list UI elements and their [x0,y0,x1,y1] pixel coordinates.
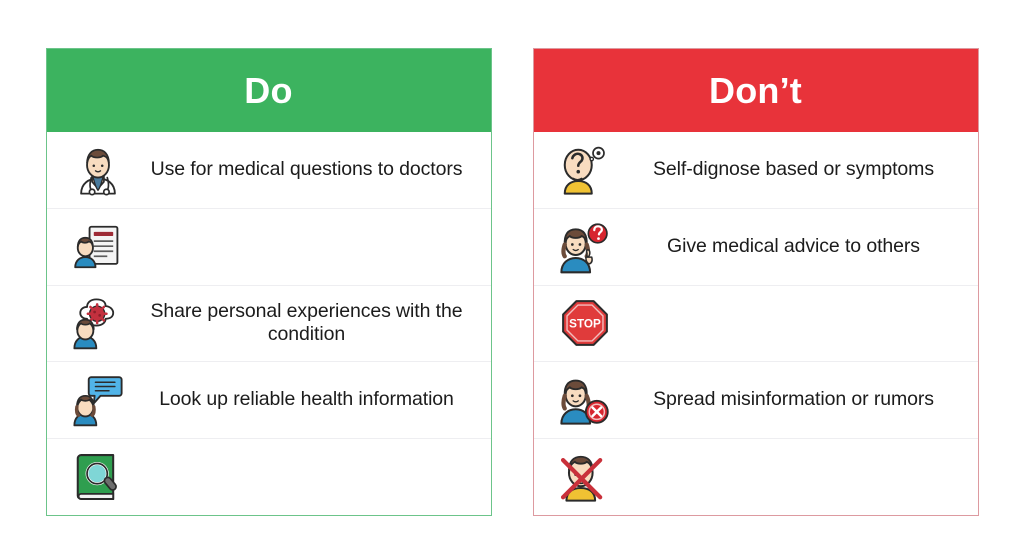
list-item-label: Use for medical questions to doctors [135,158,485,182]
do-and-dont-board: Do [0,0,1024,559]
list-item[interactable]: STOP [534,285,978,362]
list-item-label: Self-dignose based or symptoms [622,158,972,182]
list-item[interactable] [47,208,491,285]
list-item-label: Give medical advice to others [622,235,972,259]
person-crossed-out-icon [548,439,622,515]
stop-sign-label: STOP [569,318,601,331]
woman-question-badge-icon [548,209,622,285]
list-item[interactable]: Spread misinformation or rumors [534,361,978,438]
do-card-header: Do [47,49,491,132]
virus-thought-bubble-icon [61,286,135,362]
list-item-label [622,477,972,478]
confused-person-question-icon [548,132,622,208]
list-item-label: Share personal experiences with the cond… [135,300,485,348]
do-card-rows: Use for medical questions to doctors [47,132,491,515]
list-item[interactable]: Use for medical questions to doctors [47,132,491,208]
list-item-label: Spread misinformation or rumors [622,388,972,412]
dont-card: Don’t Self-dignose based or symptom [533,48,979,516]
list-item-label [135,477,485,478]
do-card: Do [46,48,492,516]
speech-bubble-person-icon [61,362,135,438]
medical-record-icon [61,209,135,285]
list-item[interactable]: Look up reliable health information [47,361,491,438]
doctor-icon [61,132,135,208]
stop-sign-icon: STOP [548,286,622,362]
list-item[interactable] [47,438,491,515]
list-item[interactable] [534,438,978,515]
list-item[interactable]: Share personal experiences with the cond… [47,285,491,362]
list-item[interactable]: Give medical advice to others [534,208,978,285]
list-item[interactable]: Self-dignose based or symptoms [534,132,978,208]
dont-card-header: Don’t [534,49,978,132]
dont-card-rows: Self-dignose based or symptoms [534,132,978,515]
list-item-label [135,246,485,247]
list-item-label: Look up reliable health information [135,388,485,412]
person-blocked-icon [548,362,622,438]
list-item-label [622,323,972,324]
book-magnifier-icon [61,439,135,515]
